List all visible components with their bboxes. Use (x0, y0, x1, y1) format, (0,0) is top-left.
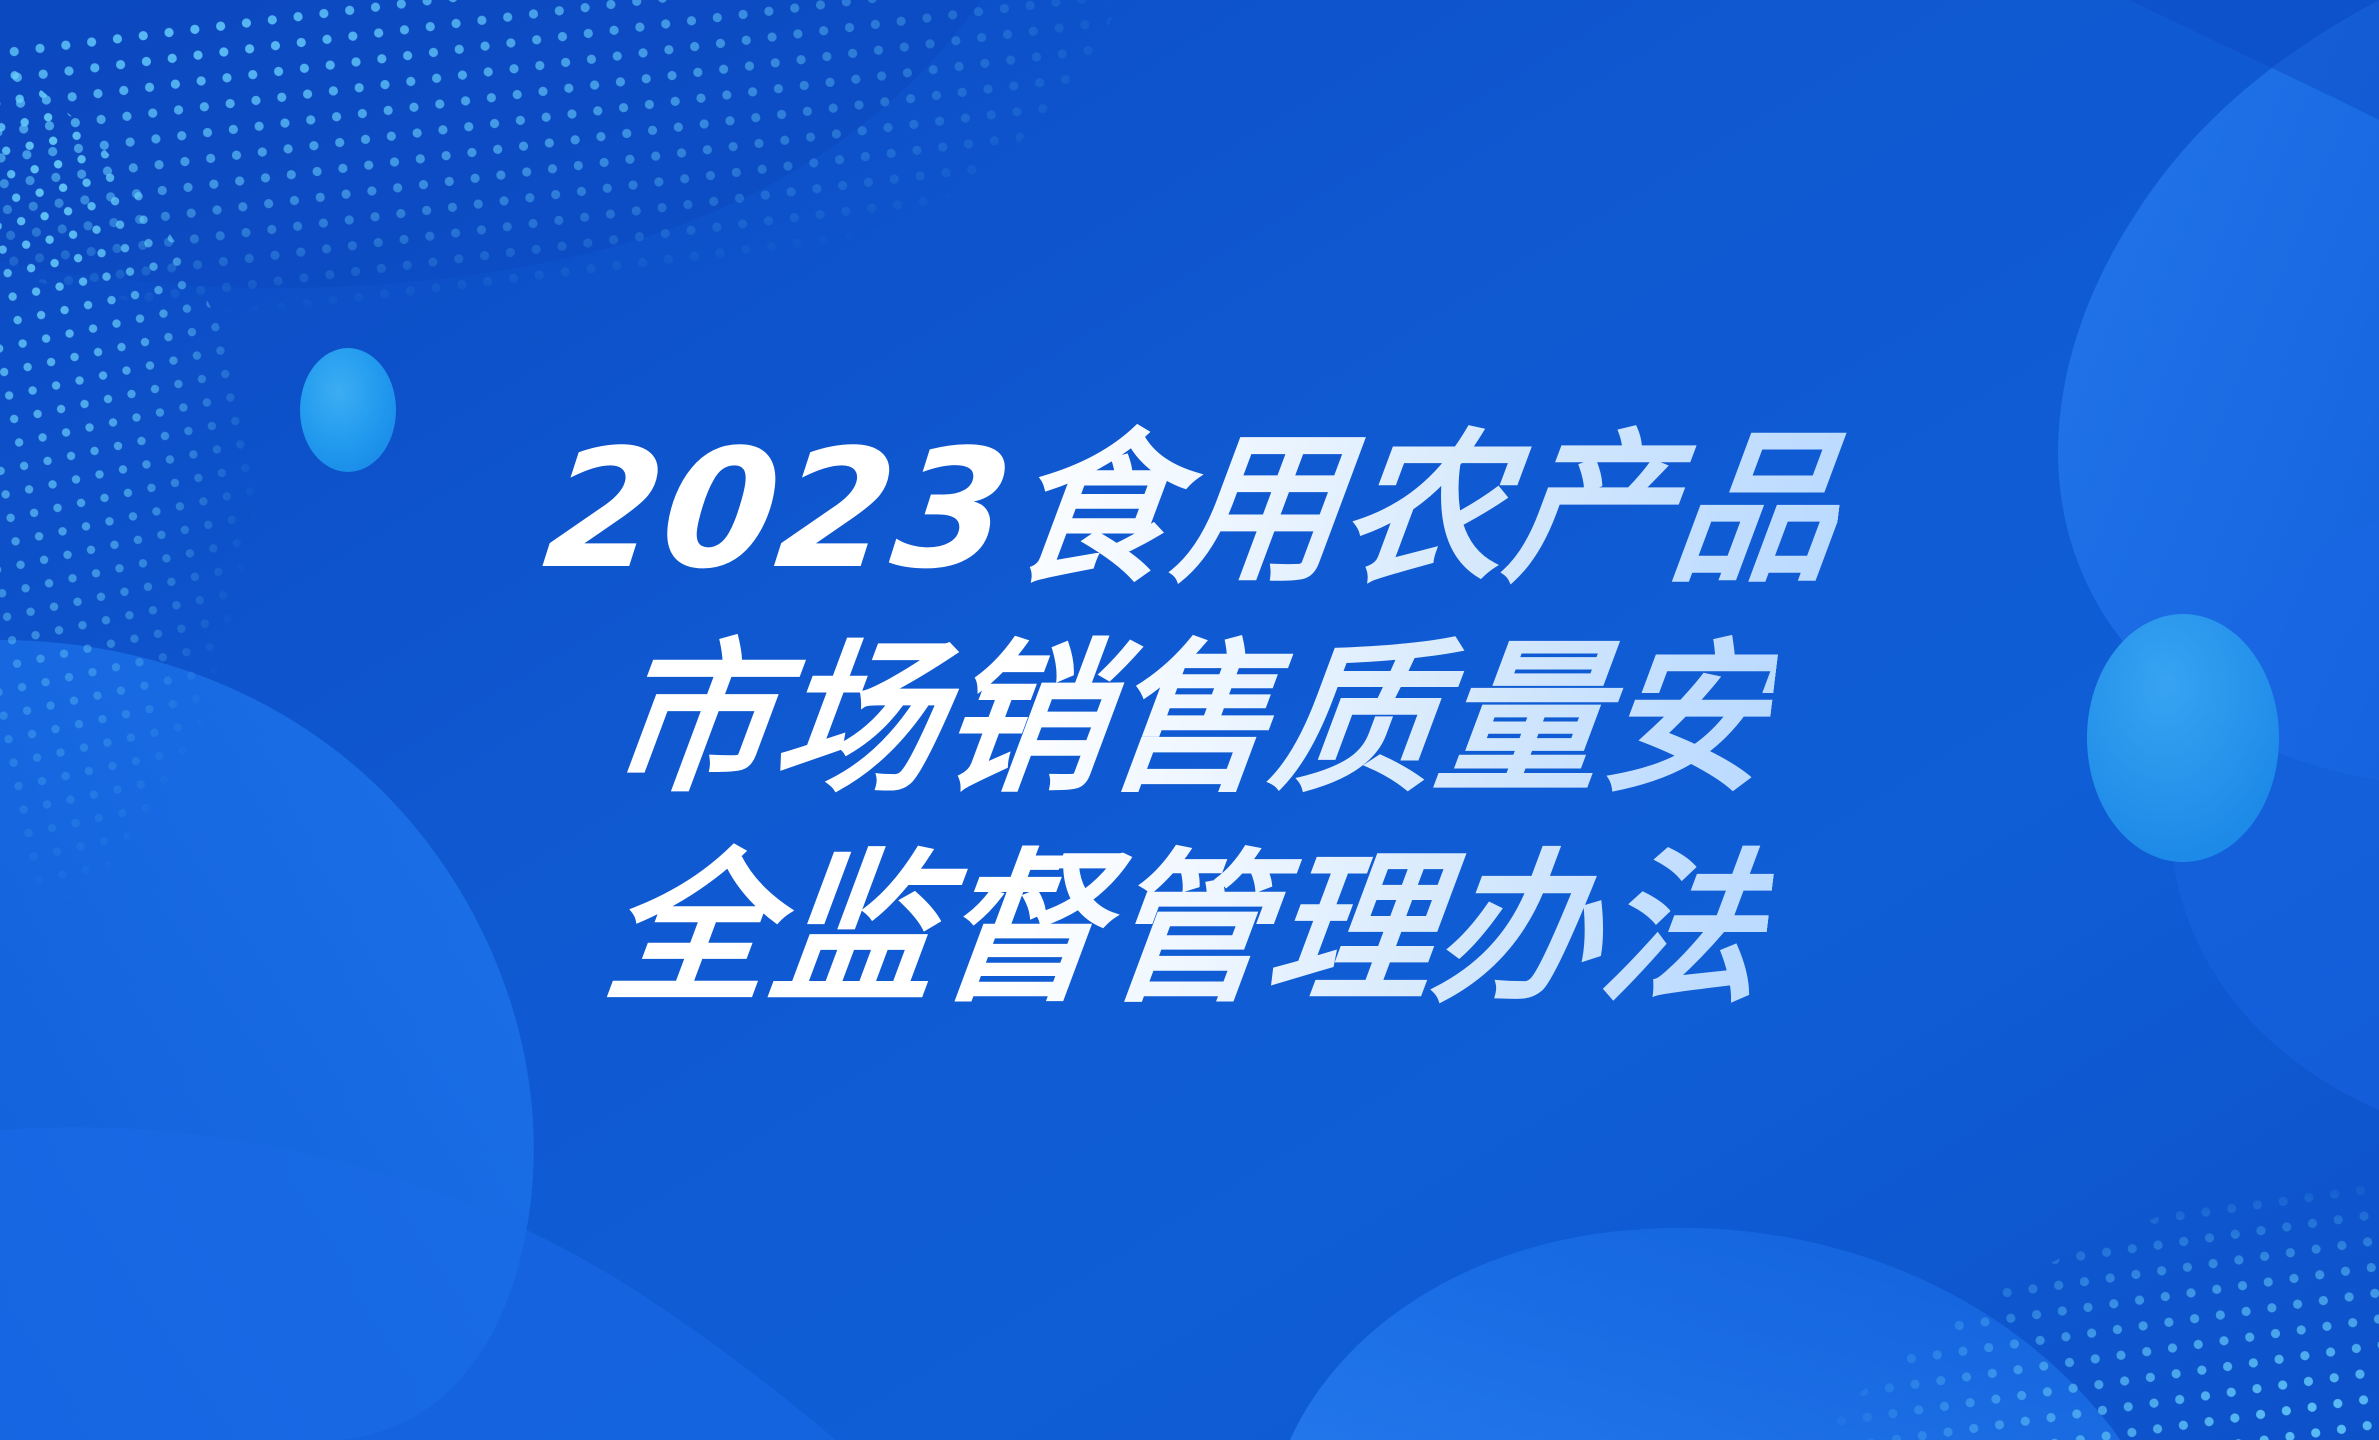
poster-title: 2023食用农产品 市场销售质量安 全监督管理办法 (0, 0, 2379, 1440)
title-line-3: 全监督管理办法 (595, 825, 1780, 1035)
title-line-2: 市场销售质量安 (598, 615, 1783, 825)
title-line-1: 2023食用农产品 (535, 405, 1852, 615)
poster-canvas: 2023食用农产品 市场销售质量安 全监督管理办法 (0, 0, 2379, 1440)
